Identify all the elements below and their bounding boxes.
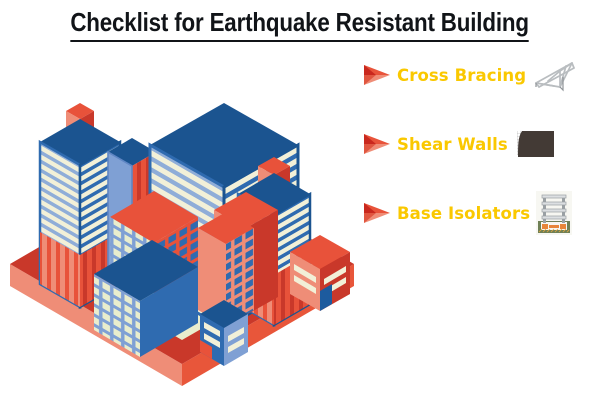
building-front-small [200,300,248,366]
checklist-label: Cross Bracing [397,66,526,85]
arrow-bullet-icon [362,132,392,156]
arrow-bullet-icon [362,201,392,225]
checklist-item-base-isolators[interactable]: Base Isolators [362,196,600,230]
arrow-bullet-icon [362,63,392,87]
checklist-label: Shear Walls [397,135,508,154]
checklist: Cross Bracing [362,58,600,265]
infographic-canvas: Checklist for Earthquake Resistant Build… [0,0,600,400]
checklist-label: Base Isolators [397,204,530,223]
page-title: Checklist for Earthquake Resistant Build… [71,8,530,42]
base-isolator-icon [536,191,572,235]
checklist-item-shear-walls[interactable]: Shear Walls [362,127,600,161]
shear-wall-icon [514,127,558,161]
title-block: Checklist for Earthquake Resistant Build… [0,8,600,42]
isometric-city-illustration [2,42,362,394]
checklist-item-cross-bracing[interactable]: Cross Bracing [362,58,600,92]
cross-bracing-truss-icon [532,57,578,93]
